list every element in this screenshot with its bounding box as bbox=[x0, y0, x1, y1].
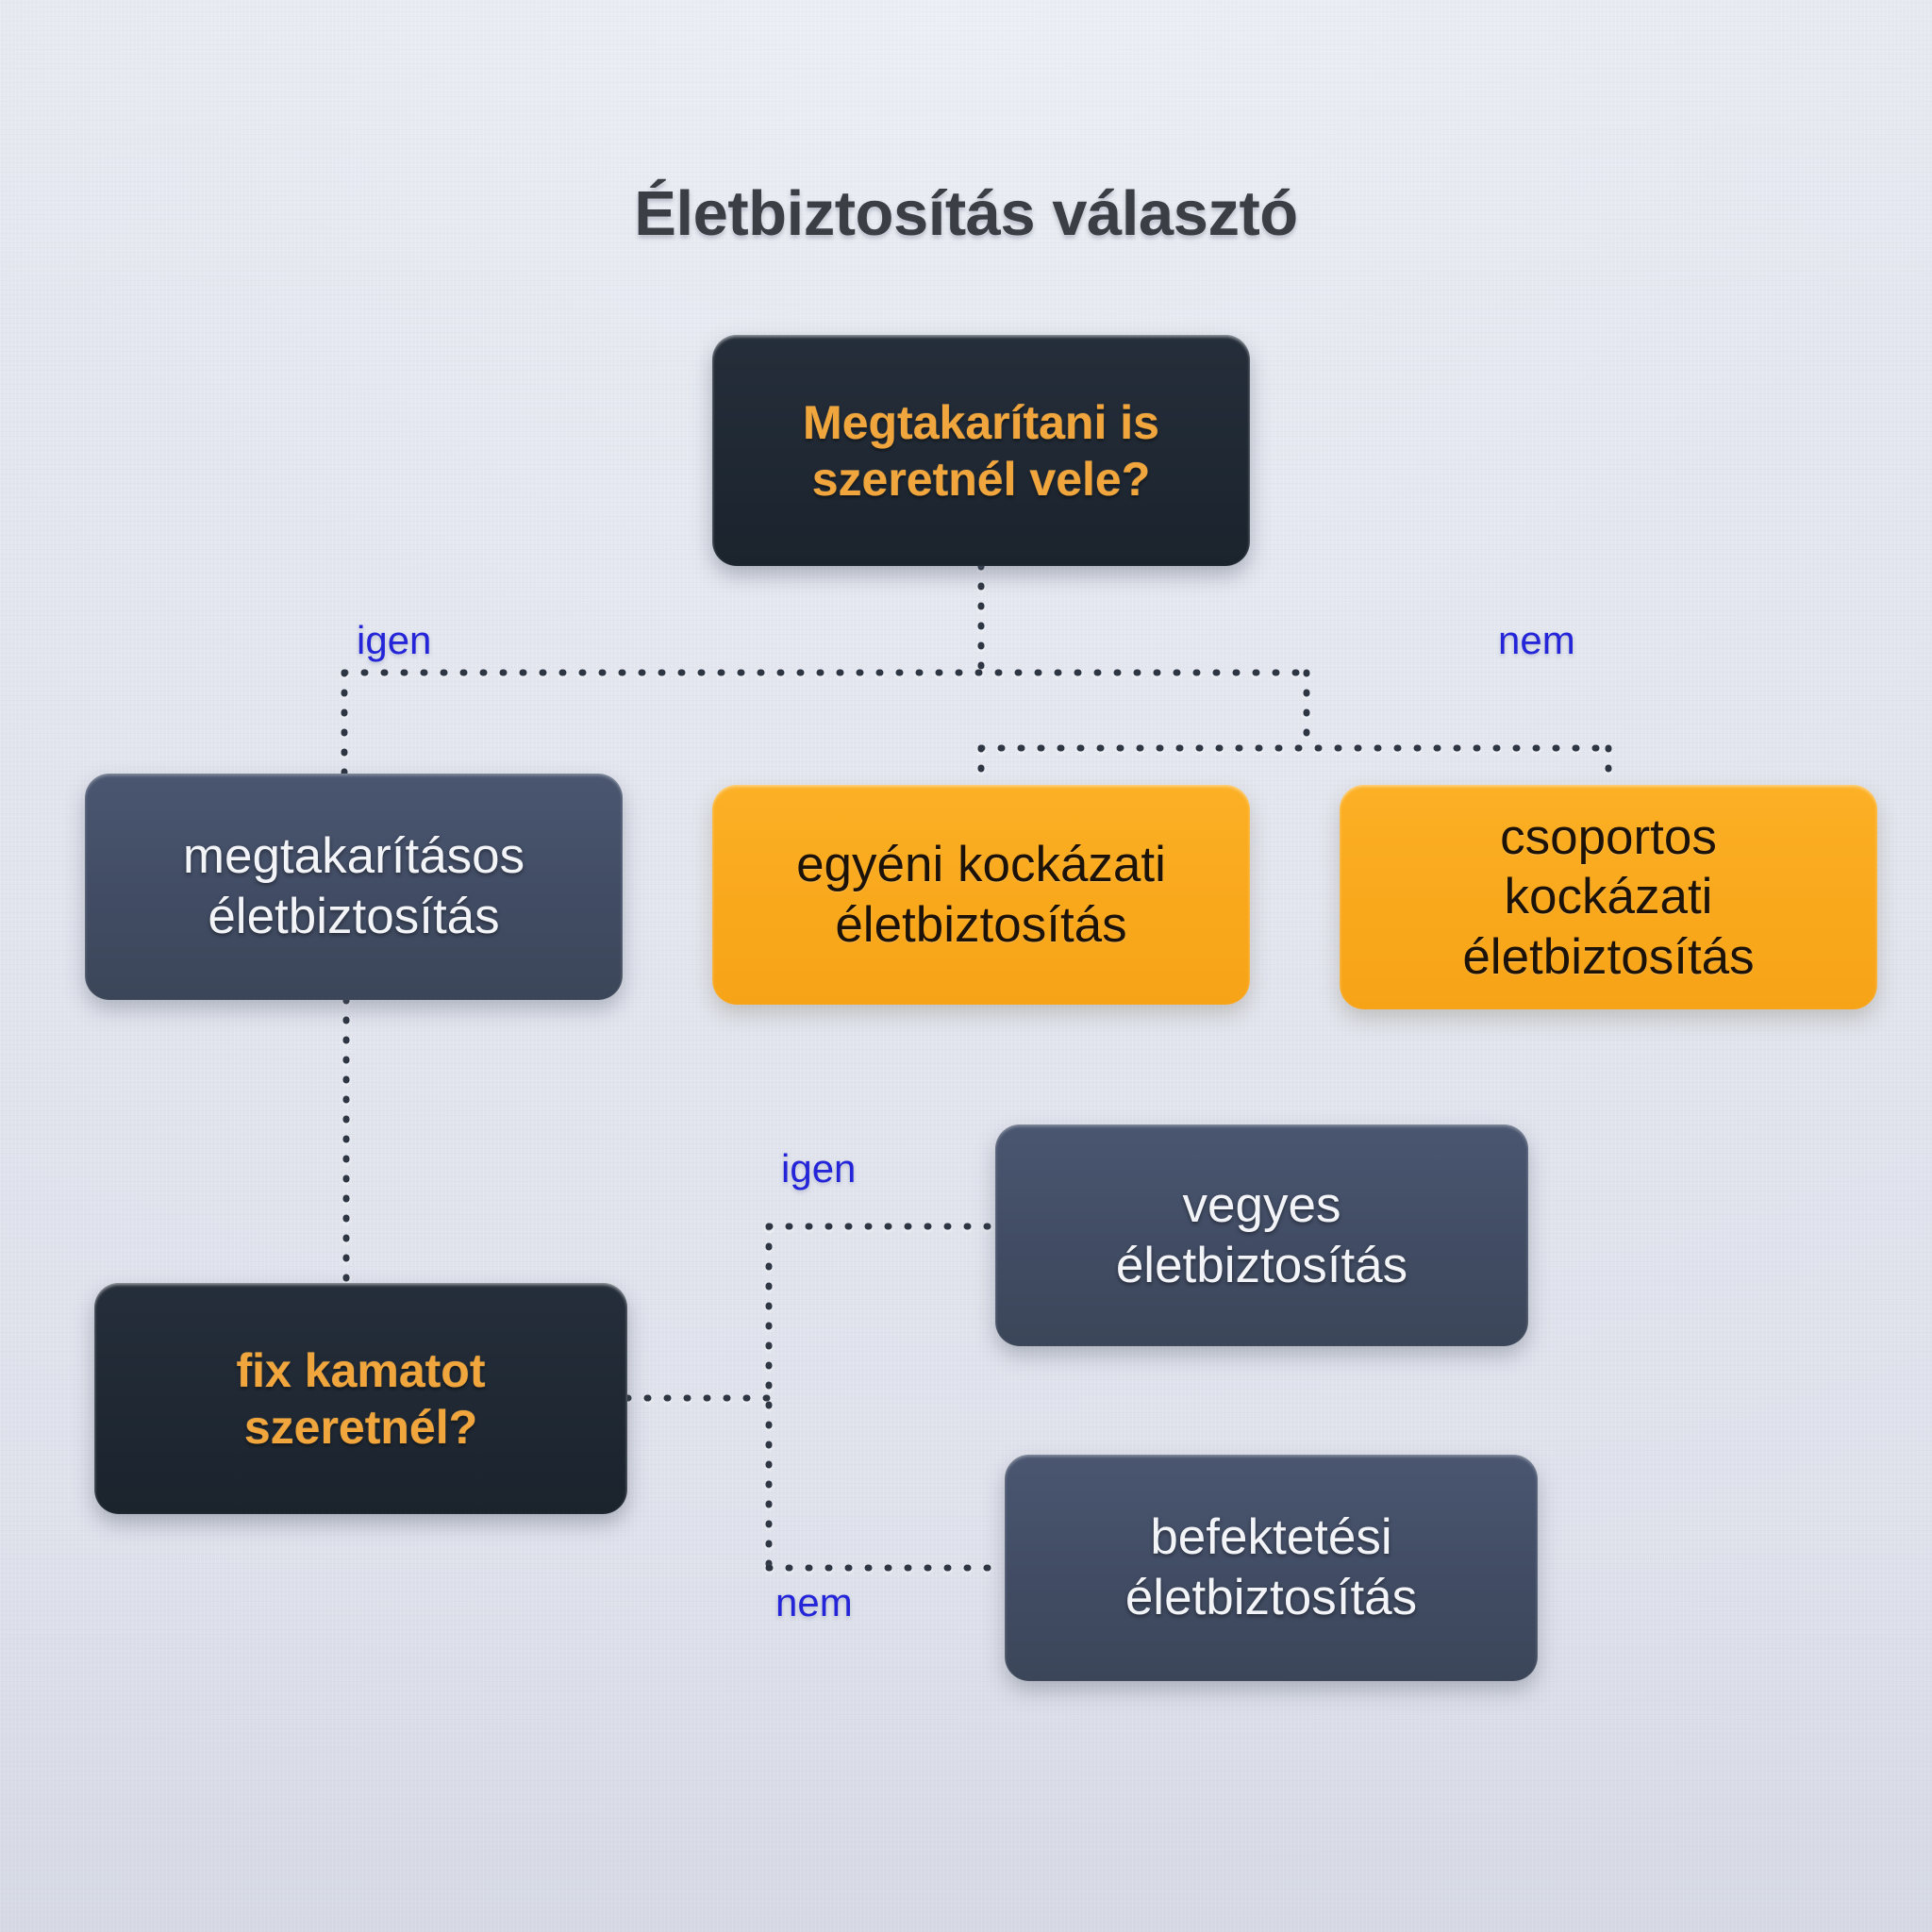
edge-label-root-yes: igen bbox=[357, 618, 431, 663]
flowchart-canvas: Életbiztosítás választó Megtakarítani is… bbox=[0, 0, 1932, 1932]
edge-label-fixed-yes: igen bbox=[781, 1146, 856, 1191]
node-investment-life[interactable]: befektetési életbiztosítás bbox=[1005, 1455, 1538, 1681]
node-group-risk-label: csoportos kockázati életbiztosítás bbox=[1445, 808, 1771, 988]
node-group-risk[interactable]: csoportos kockázati életbiztosítás bbox=[1340, 785, 1877, 1009]
node-root-question[interactable]: Megtakarítani is szeretnél vele? bbox=[712, 335, 1250, 566]
edge-label-fixed-no: nem bbox=[775, 1580, 853, 1625]
node-mixed-life-label: vegyes életbiztosítás bbox=[1099, 1175, 1424, 1295]
node-root-question-label: Megtakarítani is szeretnél vele? bbox=[786, 394, 1176, 508]
page-title: Életbiztosítás választó bbox=[0, 177, 1932, 250]
node-mixed-life[interactable]: vegyes életbiztosítás bbox=[995, 1124, 1528, 1346]
node-individual-risk-label: egyéni kockázati életbiztosítás bbox=[779, 835, 1183, 955]
node-fixed-rate-question-label: fix kamatot szeretnél? bbox=[220, 1342, 503, 1456]
node-individual-risk[interactable]: egyéni kockázati életbiztosítás bbox=[712, 785, 1250, 1005]
edge-label-root-no: nem bbox=[1498, 618, 1575, 663]
node-savings-life-label: megtakarításos életbiztosítás bbox=[166, 826, 541, 946]
node-savings-life[interactable]: megtakarításos életbiztosítás bbox=[85, 774, 623, 1000]
node-investment-life-label: befektetési életbiztosítás bbox=[1108, 1507, 1434, 1627]
node-fixed-rate-question[interactable]: fix kamatot szeretnél? bbox=[94, 1283, 627, 1514]
